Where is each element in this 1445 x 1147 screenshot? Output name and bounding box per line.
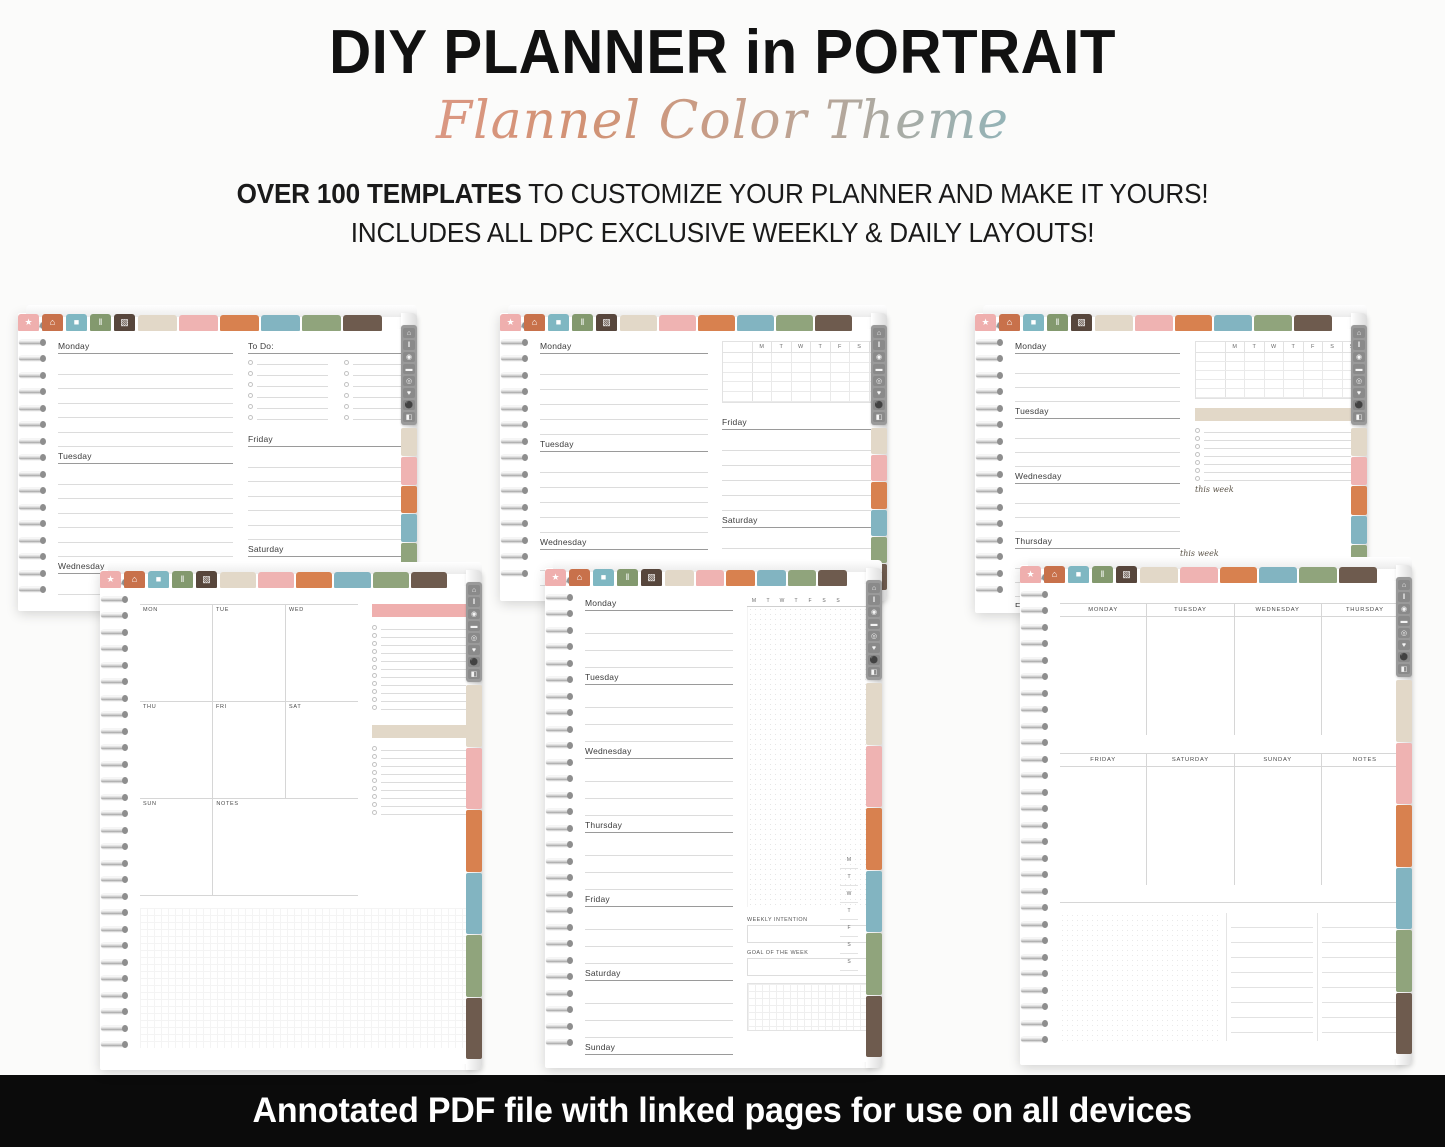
sidebar-pin-icon[interactable]: ◎: [403, 376, 415, 386]
checklist-item[interactable]: [372, 681, 466, 686]
checkbox-circle[interactable]: [372, 762, 377, 767]
grid-cell[interactable]: WED: [286, 605, 358, 701]
grid-cell[interactable]: THU: [140, 702, 213, 798]
tab-color-5[interactable]: [815, 315, 852, 331]
sidebar-color-tab-3[interactable]: [1351, 516, 1367, 544]
checkbox-circle[interactable]: [1195, 452, 1200, 457]
checkbox-circle[interactable]: [372, 705, 377, 710]
side-day-2[interactable]: W: [840, 886, 858, 903]
tab-columns-tab[interactable]: ‖: [1047, 314, 1068, 331]
tab-color-0[interactable]: [1140, 567, 1178, 583]
sidebar-calendar-icon[interactable]: ‖: [873, 340, 885, 350]
sidebar-home-icon[interactable]: ⌂: [1353, 328, 1365, 338]
habit-cell[interactable]: [1265, 389, 1284, 397]
tab-color-0[interactable]: [220, 572, 256, 588]
checklist-item[interactable]: [372, 705, 466, 710]
tab-color-1[interactable]: [1180, 567, 1218, 583]
tab-columns-tab[interactable]: ‖: [617, 569, 638, 586]
habit-name-cell[interactable]: [723, 353, 753, 362]
habit-name-cell[interactable]: [723, 363, 753, 372]
sidebar-book-icon[interactable]: ◧: [468, 669, 480, 679]
todo-item[interactable]: [344, 393, 402, 398]
tab-book-tab[interactable]: ▧: [1116, 566, 1137, 583]
habit-name-cell[interactable]: [723, 392, 753, 401]
habit-cell[interactable]: [792, 382, 811, 391]
grid-cell[interactable]: TUE: [213, 605, 286, 701]
tab-lock-tab[interactable]: ■: [148, 571, 169, 588]
checklist-item[interactable]: [1195, 468, 1351, 473]
habit-cell[interactable]: [1245, 353, 1264, 361]
checkbox-circle[interactable]: [248, 404, 253, 409]
tab-color-4[interactable]: [788, 570, 817, 586]
sidebar-glasses-icon[interactable]: ⚫: [403, 400, 415, 410]
checkbox-circle[interactable]: [1195, 436, 1200, 441]
habit-cell[interactable]: [1304, 353, 1323, 361]
checkbox-circle[interactable]: [248, 382, 253, 387]
side-day-4[interactable]: F: [840, 920, 858, 937]
checkbox-circle[interactable]: [372, 810, 377, 815]
sidebar-glasses-icon[interactable]: ⚫: [468, 657, 480, 667]
sidebar-pin-icon[interactable]: ◎: [1353, 376, 1365, 386]
sidebar-folder-icon[interactable]: ▬: [403, 364, 415, 374]
tab-color-1[interactable]: [696, 570, 725, 586]
sidebar-color-tab-2[interactable]: [466, 810, 482, 872]
checkbox-circle[interactable]: [372, 794, 377, 799]
checklist-item[interactable]: [372, 786, 466, 791]
checkbox-circle[interactable]: [1195, 460, 1200, 465]
todo-item[interactable]: [248, 382, 328, 387]
sidebar-book-icon[interactable]: ◧: [868, 667, 880, 677]
tab-color-3[interactable]: [737, 315, 774, 331]
sidebar-clock-icon[interactable]: ◉: [1353, 352, 1365, 362]
habit-cell[interactable]: [753, 363, 772, 372]
side-day-0[interactable]: M: [840, 852, 858, 869]
side-day-3[interactable]: T: [840, 903, 858, 920]
tab-color-5[interactable]: [411, 572, 447, 588]
sidebar-calendar-icon[interactable]: ‖: [403, 340, 415, 350]
tab-color-5[interactable]: [343, 315, 382, 331]
sidebar-clock-icon[interactable]: ◉: [1398, 604, 1410, 614]
checkbox-circle[interactable]: [344, 415, 349, 420]
sidebar-heart-icon[interactable]: ♥: [468, 645, 480, 655]
sidebar-clock-icon[interactable]: ◉: [873, 352, 885, 362]
checkbox-circle[interactable]: [344, 371, 349, 376]
grid-cell[interactable]: SUN: [140, 799, 213, 895]
checkbox-circle[interactable]: [372, 625, 377, 630]
todo-item[interactable]: [344, 404, 402, 409]
checklist-item[interactable]: [372, 794, 466, 799]
sidebar-glasses-icon[interactable]: ⚫: [868, 655, 880, 665]
habit-cell[interactable]: [1304, 371, 1323, 379]
habit-cell[interactable]: [811, 382, 830, 391]
sidebar-calendar-icon[interactable]: ‖: [1398, 592, 1410, 602]
tab-star-tab[interactable]: ★: [18, 314, 39, 331]
tab-book-tab[interactable]: ▧: [596, 314, 617, 331]
todo-item[interactable]: [248, 371, 328, 376]
sidebar-color-tab-0[interactable]: [871, 428, 887, 454]
habit-cell[interactable]: [850, 392, 869, 401]
tab-star-tab[interactable]: ★: [500, 314, 521, 331]
habit-cell[interactable]: [811, 353, 830, 362]
sidebar-color-tab-3[interactable]: [871, 510, 887, 536]
tab-color-1[interactable]: [179, 315, 218, 331]
habit-cell[interactable]: [850, 382, 869, 391]
tab-home-tab[interactable]: ⌂: [569, 569, 590, 586]
tab-color-0[interactable]: [1095, 315, 1133, 331]
habit-cell[interactable]: [850, 363, 869, 372]
tab-color-5[interactable]: [1294, 315, 1332, 331]
habit-cell[interactable]: [753, 392, 772, 401]
tab-book-tab[interactable]: ▧: [114, 314, 135, 331]
sidebar-color-tab-1[interactable]: [1351, 457, 1367, 485]
habit-cell[interactable]: [1245, 380, 1264, 388]
checkbox-circle[interactable]: [372, 697, 377, 702]
grid-col-body[interactable]: [1147, 767, 1233, 885]
notes-grid-area[interactable]: [140, 908, 466, 1048]
habit-cell[interactable]: [1226, 353, 1245, 361]
bottom-dot-area[interactable]: [1060, 913, 1220, 1041]
tab-color-1[interactable]: [659, 315, 696, 331]
sidebar-book-icon[interactable]: ◧: [1353, 412, 1365, 422]
checklist-item[interactable]: [1195, 460, 1351, 465]
sidebar-color-tab-5[interactable]: [466, 998, 482, 1060]
habit-cell[interactable]: [1323, 371, 1342, 379]
checkbox-circle[interactable]: [248, 360, 253, 365]
habit-cell[interactable]: [1245, 371, 1264, 379]
tab-color-3[interactable]: [261, 315, 300, 331]
habit-cell[interactable]: [753, 382, 772, 391]
habit-cell[interactable]: [1284, 371, 1303, 379]
checklist-item[interactable]: [1195, 444, 1351, 449]
grid-col-body[interactable]: [1322, 617, 1396, 735]
checklist-item[interactable]: [372, 778, 466, 783]
sidebar-color-tab-2[interactable]: [866, 808, 882, 870]
sidebar-color-tab-0[interactable]: [1396, 680, 1412, 742]
habit-cell[interactable]: [831, 363, 850, 372]
habit-cell[interactable]: [1284, 389, 1303, 397]
tab-home-tab[interactable]: ⌂: [999, 314, 1020, 331]
checklist-item[interactable]: [372, 657, 466, 662]
sidebar-color-tab-2[interactable]: [401, 486, 417, 514]
side-day-1[interactable]: T: [840, 869, 858, 886]
extra-notes-box[interactable]: [747, 983, 866, 1031]
sidebar-color-tab-1[interactable]: [871, 455, 887, 481]
tab-color-3[interactable]: [1214, 315, 1252, 331]
checklist-item[interactable]: [1195, 428, 1351, 433]
checkbox-circle[interactable]: [1195, 476, 1200, 481]
sidebar-heart-icon[interactable]: ♥: [1398, 640, 1410, 650]
sidebar-color-tab-1[interactable]: [401, 457, 417, 485]
todo-item[interactable]: [248, 360, 328, 365]
habit-cell[interactable]: [1265, 371, 1284, 379]
tab-star-tab[interactable]: ★: [975, 314, 996, 331]
habit-cell[interactable]: [1343, 371, 1351, 379]
habit-cell[interactable]: [1323, 362, 1342, 370]
sidebar-color-tab-0[interactable]: [401, 428, 417, 456]
sidebar-pin-icon[interactable]: ◎: [1398, 628, 1410, 638]
checklist-item[interactable]: [372, 810, 466, 815]
habit-cell[interactable]: [792, 353, 811, 362]
sidebar-folder-icon[interactable]: ▬: [873, 364, 885, 374]
habit-name-cell[interactable]: [1196, 371, 1226, 379]
sidebar-folder-icon[interactable]: ▬: [1398, 616, 1410, 626]
checkbox-circle[interactable]: [372, 681, 377, 686]
checkbox-circle[interactable]: [248, 415, 253, 420]
tab-columns-tab[interactable]: ‖: [172, 571, 193, 588]
tab-color-4[interactable]: [1299, 567, 1337, 583]
sidebar-home-icon[interactable]: ⌂: [873, 328, 885, 338]
grid-cell[interactable]: NOTES: [213, 799, 358, 895]
checkbox-circle[interactable]: [372, 786, 377, 791]
checkbox-circle[interactable]: [1195, 444, 1200, 449]
checkbox-circle[interactable]: [372, 665, 377, 670]
sidebar-glasses-icon[interactable]: ⚫: [873, 400, 885, 410]
checklist-item[interactable]: [372, 754, 466, 759]
sidebar-color-tab-1[interactable]: [466, 748, 482, 810]
sidebar-color-tab-4[interactable]: [1396, 930, 1412, 992]
sidebar-home-icon[interactable]: ⌂: [403, 328, 415, 338]
grid-cell[interactable]: FRI: [213, 702, 286, 798]
habit-cell[interactable]: [1323, 389, 1342, 397]
grid-col-body[interactable]: [1322, 767, 1396, 885]
checkbox-circle[interactable]: [1195, 468, 1200, 473]
sidebar-folder-icon[interactable]: ▬: [868, 619, 880, 629]
checkbox-circle[interactable]: [344, 382, 349, 387]
tab-columns-tab[interactable]: ‖: [1092, 566, 1113, 583]
sidebar-pin-icon[interactable]: ◎: [468, 633, 480, 643]
todo-item[interactable]: [344, 382, 402, 387]
tab-book-tab[interactable]: ▧: [196, 571, 217, 588]
tab-color-0[interactable]: [138, 315, 177, 331]
sidebar-color-tab-4[interactable]: [866, 933, 882, 995]
sidebar-pin-icon[interactable]: ◎: [868, 631, 880, 641]
side-day-5[interactable]: S: [840, 937, 858, 954]
checkbox-circle[interactable]: [372, 754, 377, 759]
tab-color-4[interactable]: [776, 315, 813, 331]
sidebar-heart-icon[interactable]: ♥: [873, 388, 885, 398]
tab-color-2[interactable]: [726, 570, 755, 586]
sidebar-clock-icon[interactable]: ◉: [403, 352, 415, 362]
habit-cell[interactable]: [1284, 380, 1303, 388]
tab-lock-tab[interactable]: ■: [66, 314, 87, 331]
checklist-item[interactable]: [372, 649, 466, 654]
habit-cell[interactable]: [850, 373, 869, 382]
habit-cell[interactable]: [1323, 353, 1342, 361]
checkbox-circle[interactable]: [372, 746, 377, 751]
tab-lock-tab[interactable]: ■: [1023, 314, 1044, 331]
checklist-item[interactable]: [372, 673, 466, 678]
checkbox-circle[interactable]: [1195, 428, 1200, 433]
checkbox-circle[interactable]: [248, 371, 253, 376]
sidebar-color-tab-0[interactable]: [1351, 428, 1367, 456]
checkbox-circle[interactable]: [372, 657, 377, 662]
sidebar-heart-icon[interactable]: ♥: [1353, 388, 1365, 398]
grid-col-body[interactable]: [1235, 617, 1321, 735]
habit-cell[interactable]: [772, 353, 791, 362]
habit-cell[interactable]: [831, 353, 850, 362]
habit-cell[interactable]: [831, 373, 850, 382]
sidebar-heart-icon[interactable]: ♥: [868, 643, 880, 653]
tab-star-tab[interactable]: ★: [545, 569, 566, 586]
habit-cell[interactable]: [1245, 362, 1264, 370]
tab-color-1[interactable]: [258, 572, 294, 588]
sidebar-clock-icon[interactable]: ◉: [468, 609, 480, 619]
habit-cell[interactable]: [831, 392, 850, 401]
checklist-item[interactable]: [372, 665, 466, 670]
habit-cell[interactable]: [772, 392, 791, 401]
sidebar-color-tab-4[interactable]: [871, 537, 887, 563]
checkbox-circle[interactable]: [344, 360, 349, 365]
sidebar-glasses-icon[interactable]: ⚫: [1353, 400, 1365, 410]
habit-cell[interactable]: [792, 392, 811, 401]
tab-color-3[interactable]: [1259, 567, 1297, 583]
tab-color-2[interactable]: [220, 315, 259, 331]
tab-columns-tab[interactable]: ‖: [572, 314, 593, 331]
sidebar-color-tab-5[interactable]: [866, 996, 882, 1058]
checkbox-circle[interactable]: [372, 778, 377, 783]
habit-name-cell[interactable]: [1196, 380, 1226, 388]
sidebar-folder-icon[interactable]: ▬: [468, 621, 480, 631]
tab-star-tab[interactable]: ★: [1020, 566, 1041, 583]
habit-name-cell[interactable]: [1196, 389, 1226, 397]
sidebar-heart-icon[interactable]: ♥: [403, 388, 415, 398]
sidebar-color-tab-2[interactable]: [871, 482, 887, 508]
checklist-item[interactable]: [372, 770, 466, 775]
checkbox-circle[interactable]: [372, 641, 377, 646]
checklist-item[interactable]: [372, 689, 466, 694]
side-day-6[interactable]: S: [840, 954, 858, 971]
habit-cell[interactable]: [792, 363, 811, 372]
todo-item[interactable]: [344, 360, 402, 365]
checklist-item[interactable]: [1195, 452, 1351, 457]
tab-home-tab[interactable]: ⌂: [124, 571, 145, 588]
tab-color-2[interactable]: [1175, 315, 1213, 331]
sidebar-color-tab-1[interactable]: [866, 746, 882, 808]
checklist-item[interactable]: [372, 746, 466, 751]
habit-name-cell[interactable]: [723, 382, 753, 391]
checklist-item[interactable]: [372, 641, 466, 646]
tab-color-4[interactable]: [302, 315, 341, 331]
sidebar-calendar-icon[interactable]: ‖: [868, 595, 880, 605]
grid-col-body[interactable]: [1060, 617, 1146, 735]
checkbox-circle[interactable]: [372, 802, 377, 807]
habit-cell[interactable]: [1226, 380, 1245, 388]
checkbox-circle[interactable]: [372, 649, 377, 654]
tab-color-0[interactable]: [665, 570, 694, 586]
sidebar-home-icon[interactable]: ⌂: [868, 583, 880, 593]
tab-color-4[interactable]: [1254, 315, 1292, 331]
tab-lock-tab[interactable]: ■: [593, 569, 614, 586]
sidebar-color-tab-3[interactable]: [401, 514, 417, 542]
checkbox-circle[interactable]: [344, 404, 349, 409]
tab-color-3[interactable]: [334, 572, 370, 588]
sidebar-clock-icon[interactable]: ◉: [868, 607, 880, 617]
habit-cell[interactable]: [1226, 389, 1245, 397]
tab-home-tab[interactable]: ⌂: [42, 314, 63, 331]
sidebar-glasses-icon[interactable]: ⚫: [1398, 652, 1410, 662]
habit-cell[interactable]: [850, 353, 869, 362]
tab-color-2[interactable]: [698, 315, 735, 331]
tab-lock-tab[interactable]: ■: [548, 314, 569, 331]
tab-color-0[interactable]: [620, 315, 657, 331]
habit-cell[interactable]: [1323, 380, 1342, 388]
habit-cell[interactable]: [1304, 380, 1323, 388]
sidebar-color-tab-0[interactable]: [466, 685, 482, 747]
habit-cell[interactable]: [772, 373, 791, 382]
tab-color-1[interactable]: [1135, 315, 1173, 331]
checklist-item[interactable]: [372, 633, 466, 638]
sidebar-color-tab-4[interactable]: [466, 935, 482, 997]
habit-cell[interactable]: [1284, 362, 1303, 370]
sidebar-home-icon[interactable]: ⌂: [1398, 580, 1410, 590]
tab-home-tab[interactable]: ⌂: [524, 314, 545, 331]
checkbox-circle[interactable]: [372, 673, 377, 678]
grid-cell[interactable]: MON: [140, 605, 213, 701]
tab-color-2[interactable]: [296, 572, 332, 588]
habit-name-cell[interactable]: [723, 373, 753, 382]
grid-col-body[interactable]: [1147, 617, 1233, 735]
habit-cell[interactable]: [811, 373, 830, 382]
sidebar-home-icon[interactable]: ⌂: [468, 585, 480, 595]
lined-column-1[interactable]: [1317, 913, 1396, 1041]
tab-book-tab[interactable]: ▧: [641, 569, 662, 586]
sidebar-calendar-icon[interactable]: ‖: [468, 597, 480, 607]
tab-color-5[interactable]: [1339, 567, 1377, 583]
sidebar-color-tab-3[interactable]: [466, 873, 482, 935]
todo-item[interactable]: [344, 415, 402, 420]
sidebar-color-tab-3[interactable]: [1396, 868, 1412, 930]
sidebar-book-icon[interactable]: ◧: [403, 412, 415, 422]
sidebar-book-icon[interactable]: ◧: [1398, 664, 1410, 674]
habit-cell[interactable]: [1304, 362, 1323, 370]
habit-cell[interactable]: [811, 363, 830, 372]
habit-cell[interactable]: [811, 392, 830, 401]
habit-name-cell[interactable]: [1196, 353, 1226, 361]
habit-cell[interactable]: [1265, 380, 1284, 388]
tab-color-3[interactable]: [757, 570, 786, 586]
checklist-item[interactable]: [1195, 476, 1351, 481]
sidebar-color-tab-5[interactable]: [1396, 993, 1412, 1055]
sidebar-pin-icon[interactable]: ◎: [873, 376, 885, 386]
habit-cell[interactable]: [753, 353, 772, 362]
checkbox-circle[interactable]: [372, 633, 377, 638]
habit-cell[interactable]: [772, 363, 791, 372]
habit-name-cell[interactable]: [1196, 362, 1226, 370]
tab-home-tab[interactable]: ⌂: [1044, 566, 1065, 583]
habit-cell[interactable]: [1284, 353, 1303, 361]
habit-cell[interactable]: [1343, 380, 1351, 388]
checklist-item[interactable]: [1195, 436, 1351, 441]
tab-color-2[interactable]: [1220, 567, 1258, 583]
habit-cell[interactable]: [831, 382, 850, 391]
sidebar-calendar-icon[interactable]: ‖: [1353, 340, 1365, 350]
checkbox-circle[interactable]: [248, 393, 253, 398]
habit-cell[interactable]: [792, 373, 811, 382]
habit-cell[interactable]: [1226, 362, 1245, 370]
todo-item[interactable]: [248, 404, 328, 409]
tab-lock-tab[interactable]: ■: [1068, 566, 1089, 583]
sidebar-folder-icon[interactable]: ▬: [1353, 364, 1365, 374]
checklist-item[interactable]: [372, 802, 466, 807]
habit-cell[interactable]: [1265, 353, 1284, 361]
sidebar-color-tab-3[interactable]: [866, 871, 882, 933]
sidebar-color-tab-2[interactable]: [1396, 805, 1412, 867]
todo-item[interactable]: [344, 371, 402, 376]
grid-col-body[interactable]: [1060, 767, 1146, 885]
habit-cell[interactable]: [772, 382, 791, 391]
lined-column-0[interactable]: [1226, 913, 1317, 1041]
todo-item[interactable]: [248, 415, 328, 420]
